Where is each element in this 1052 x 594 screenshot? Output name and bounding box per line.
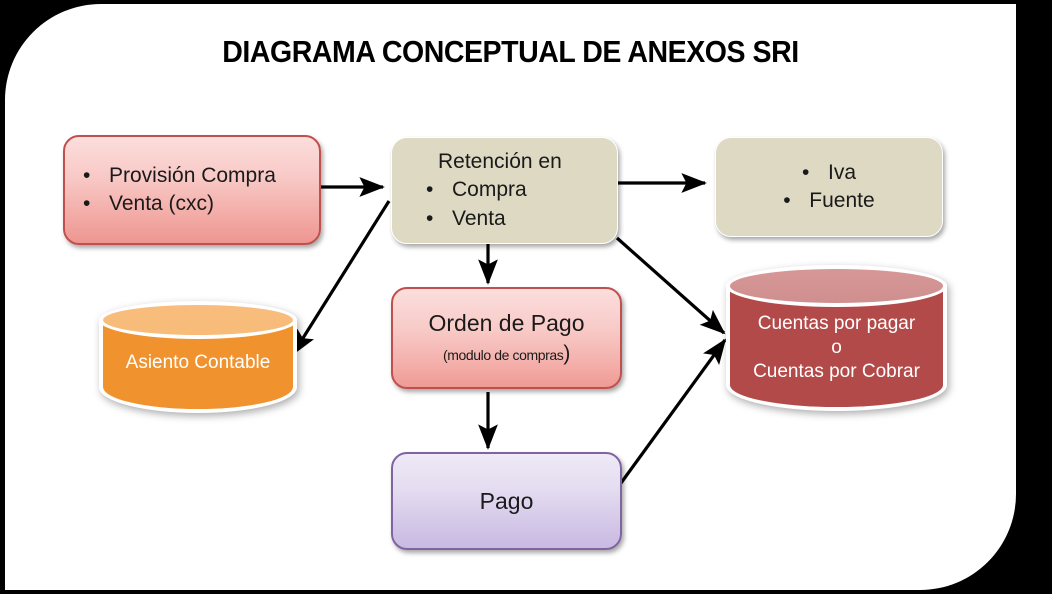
- node-ivafuente-line-2: •Fuente: [716, 187, 942, 215]
- cylinder-top-ellipse: [726, 265, 947, 307]
- node-provision-line-1-text: Provisión Compra: [109, 164, 276, 187]
- bullet-icon: •: [83, 162, 109, 190]
- node-orden-title: Orden de Pago: [393, 310, 620, 338]
- bullet-icon: •: [783, 187, 809, 215]
- node-provision[interactable]: •Provisión Compra •Venta (cxc): [63, 135, 321, 245]
- node-orden-subtitle-text: (modulo de compras: [443, 347, 563, 363]
- node-cuentas-label-line-2: o: [726, 336, 947, 360]
- node-orden-subtitle: (modulo de compras): [393, 342, 620, 366]
- node-cuentas-label-line-1: Cuentas por pagar: [726, 312, 947, 336]
- node-pago-title: Pago: [393, 488, 620, 515]
- node-retencion-line-1: •Compra: [426, 176, 617, 204]
- node-retencion-line-2-text: Venta: [452, 207, 506, 230]
- node-retencion-line-1-text: Compra: [452, 178, 527, 201]
- bullet-icon: •: [802, 159, 828, 187]
- node-orden-subtitle-close: ): [563, 342, 570, 365]
- node-ivafuente-line-1-text: Iva: [828, 161, 856, 184]
- bullet-icon: •: [426, 205, 452, 233]
- node-retencion-line-2: •Venta: [426, 205, 617, 233]
- connector-retencion-to-cuentas: [617, 238, 724, 333]
- node-cuentas[interactable]: Cuentas por pagar o Cuentas por Cobrar: [726, 265, 947, 411]
- page-title: DIAGRAMA CONCEPTUAL DE ANEXOS SRI: [45, 34, 975, 70]
- node-ivafuente-line-2-text: Fuente: [809, 189, 874, 212]
- node-ivafuente-line-1: •Iva: [716, 159, 942, 187]
- node-retencion-heading: Retención en: [426, 148, 617, 176]
- cylinder-top-ellipse: [99, 301, 297, 339]
- connector-pago-to-cuentas: [613, 340, 725, 494]
- bullet-icon: •: [83, 190, 109, 218]
- node-pago[interactable]: Pago: [391, 452, 622, 550]
- node-cuentas-label-line-3: Cuentas por Cobrar: [726, 360, 947, 384]
- slide-canvas: DIAGRAMA CONCEPTUAL DE ANEXOS SRI: [0, 0, 1052, 594]
- node-retencion[interactable]: Retención en •Compra •Venta: [391, 137, 618, 244]
- node-asiento-label: Asiento Contable: [99, 351, 297, 375]
- bullet-icon: •: [426, 176, 452, 204]
- node-cuentas-label: Cuentas por pagar o Cuentas por Cobrar: [726, 312, 947, 383]
- node-provision-line-2-text: Venta (cxc): [109, 192, 214, 215]
- node-ivafuente[interactable]: •Iva •Fuente: [715, 137, 943, 237]
- node-provision-line-2: •Venta (cxc): [83, 190, 319, 218]
- slide-page: DIAGRAMA CONCEPTUAL DE ANEXOS SRI: [5, 4, 1016, 590]
- node-orden-de-pago[interactable]: Orden de Pago (modulo de compras): [391, 287, 622, 389]
- node-provision-line-1: •Provisión Compra: [83, 162, 319, 190]
- node-asiento-label-line-1: Asiento Contable: [99, 351, 297, 375]
- node-asiento-contable[interactable]: Asiento Contable: [99, 301, 297, 413]
